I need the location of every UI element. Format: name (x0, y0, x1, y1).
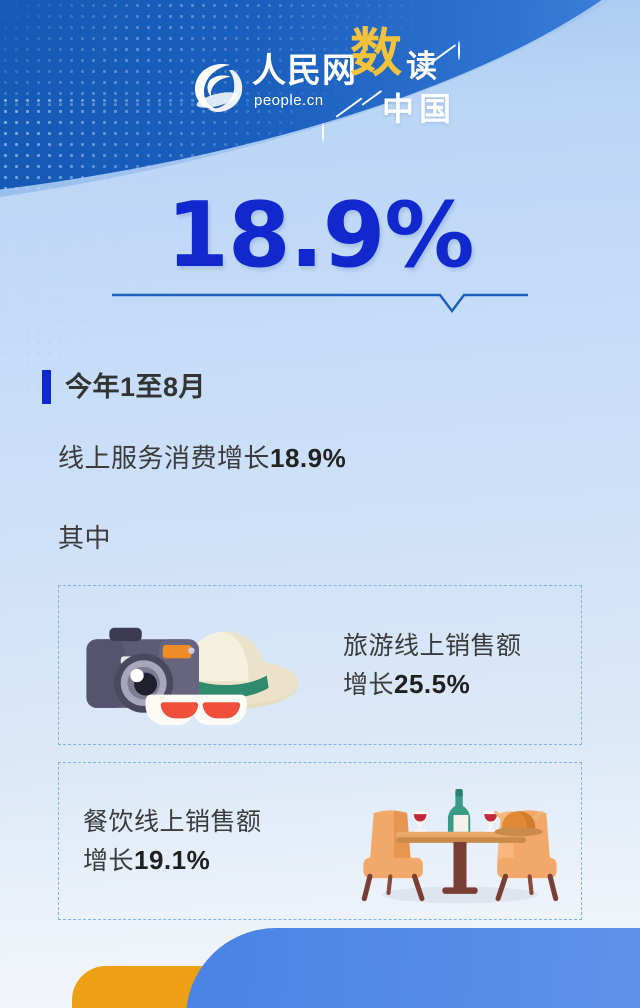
column-title-char-du: 读 (406, 50, 437, 84)
section-accent-bar (42, 370, 51, 404)
lead-prefix: 线上服务消费增长 (58, 443, 270, 473)
brand-lockup: 人民网 people.cn (186, 52, 357, 118)
decor-line-bottom-2-icon (362, 90, 382, 105)
tourism-line-2: 增长25.5% (343, 665, 522, 704)
hero-value: 18.9% (0, 188, 640, 284)
hero-statistic: 18.9% (0, 188, 640, 284)
tourism-line-1: 旅游线上销售额 (343, 627, 522, 665)
footer-orange-shape (72, 966, 402, 1008)
footer-blue-shape (186, 928, 640, 1008)
lead-value: 18.9% (270, 443, 346, 473)
brand-name-en: people.cn (252, 92, 357, 110)
decor-circle-top-icon (458, 42, 460, 60)
catering-line-2: 增长19.1% (83, 841, 353, 880)
catering-card-text: 餐饮线上销售额 增长19.1% (59, 803, 353, 880)
catering-growth-prefix: 增长 (83, 847, 134, 875)
camera-hat-sunglasses-icon (59, 603, 339, 727)
dining-table-wine-chicken-icon (353, 776, 567, 906)
among-label: 其中 (58, 520, 111, 556)
brand-name-cn: 人民网 (252, 52, 357, 92)
poster-header: 人民网 people.cn 数 读 中国 (0, 0, 640, 170)
lead-statement: 线上服务消费增长18.9% (58, 440, 346, 476)
section-heading: 今年1至8月 (42, 370, 206, 404)
stat-card-tourism: 旅游线上销售额 增长25.5% (58, 585, 582, 745)
tourism-card-text: 旅游线上销售额 增长25.5% (339, 627, 522, 704)
section-period-label: 今年1至8月 (65, 370, 206, 404)
tourism-growth-value: 25.5% (394, 669, 470, 699)
infographic-poster: 人民网 people.cn 数 读 中国 18.9% (0, 0, 640, 1008)
catering-growth-value: 19.1% (134, 845, 210, 875)
tourism-growth-prefix: 增长 (343, 671, 394, 699)
column-title-char-shu: 数 (350, 28, 402, 82)
column-title-shudu-zhongguo: 数 读 中国 (350, 28, 500, 140)
stat-card-catering: 餐饮线上销售额 增长19.1% (58, 762, 582, 920)
hero-divider-rule (112, 292, 528, 314)
brand-wordmark: 人民网 people.cn (252, 52, 357, 110)
people-cn-globe-icon (186, 58, 246, 118)
column-title-chars-zhongguo: 中国 (382, 90, 456, 128)
catering-line-1: 餐饮线上销售额 (83, 803, 353, 841)
decor-circle-bottom-icon (322, 124, 324, 142)
